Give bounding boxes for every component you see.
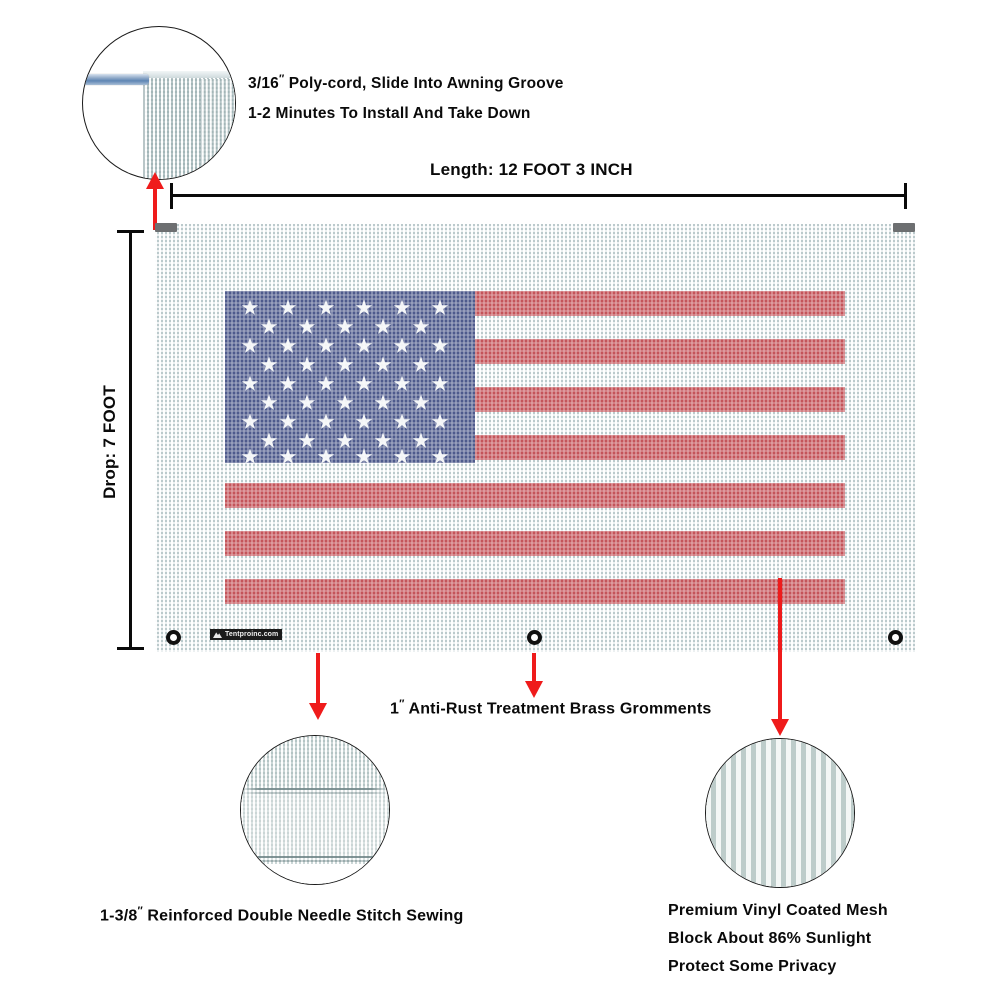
flag-stripe-7 xyxy=(225,579,845,604)
flag-stripe-2 xyxy=(475,339,845,364)
callout-polycord-line2: 1-2 Minutes To Install And Take Down xyxy=(248,105,531,123)
stitch-text: Reinforced Double Needle Stitch Sewing xyxy=(143,907,464,924)
arrow-grommet-stem xyxy=(532,653,536,683)
grommet-size: 1 xyxy=(390,700,399,717)
length-dimension-cap-right xyxy=(904,183,907,209)
header-endcap-right xyxy=(893,223,915,232)
hem-band xyxy=(241,788,389,860)
callout-mesh-line3: Protect Some Privacy xyxy=(668,958,837,976)
stitch-size: 1-3/8 xyxy=(100,907,137,924)
detail-circle-polycord xyxy=(82,26,236,180)
arrow-mesh-head xyxy=(771,719,789,736)
mesh-swatch-polycord-right xyxy=(201,79,236,180)
callout-mesh-line2: Block About 86% Sunlight xyxy=(668,930,871,948)
arrow-stitching-head xyxy=(309,703,327,720)
length-dimension-line xyxy=(170,194,907,197)
hem-fold xyxy=(143,71,236,78)
stitch-line-top-2 xyxy=(241,792,389,794)
circle-bottom-fade xyxy=(241,864,389,884)
canton-stars xyxy=(225,291,475,463)
grommet-left xyxy=(166,630,181,645)
callout-stitching: 1-3/8″ Reinforced Double Needle Stitch S… xyxy=(100,905,464,925)
arrow-polycord-head xyxy=(146,172,164,189)
flag-stripe-3 xyxy=(475,387,845,412)
flag-canton xyxy=(225,291,475,463)
detail-circle-mesh xyxy=(705,738,855,888)
drop-dimension-cap-bottom xyxy=(117,647,144,650)
flag-stripe-5 xyxy=(225,483,845,508)
flag-stripe-6 xyxy=(225,531,845,556)
mesh-swatch-vinyl xyxy=(706,739,854,887)
stitch-line-bottom xyxy=(241,856,389,858)
grommet-right xyxy=(888,630,903,645)
length-dimension-cap-left xyxy=(170,183,173,209)
polycord-rod xyxy=(82,74,149,85)
arrow-stitching-stem xyxy=(316,653,320,705)
grommet-center xyxy=(527,630,542,645)
flag-stripe-4 xyxy=(475,435,845,460)
flag-mesh-panel: Tentproinc.com xyxy=(155,224,915,652)
detail-circle-stitching xyxy=(240,735,390,885)
header-endcap-left xyxy=(155,223,177,232)
stitch-line-bottom-2 xyxy=(241,860,389,862)
drop-dimension-line xyxy=(129,231,132,650)
stitch-line-top xyxy=(241,788,389,790)
callout-polycord-line1: 3/16″ Poly-cord, Slide Into Awning Groov… xyxy=(248,73,564,93)
callout-mesh-line1: Premium Vinyl Coated Mesh xyxy=(668,902,888,920)
polycord-size: 3/16 xyxy=(248,75,279,92)
flag-stripe-1 xyxy=(475,291,845,316)
grommet-text: Anti-Rust Treatment Brass Gromments xyxy=(404,700,711,717)
drop-label: Drop: 7 FOOT xyxy=(100,382,120,502)
infographic-canvas: 3/16″ Poly-cord, Slide Into Awning Groov… xyxy=(0,0,1000,991)
polycord-text: Poly-cord, Slide Into Awning Groove xyxy=(284,75,563,92)
length-label: Length: 12 FOOT 3 INCH xyxy=(430,160,633,180)
callout-grommets: 1″ Anti-Rust Treatment Brass Gromments xyxy=(390,698,712,718)
mountain-logo-icon xyxy=(213,631,222,638)
brand-tag-label: Tentproinc.com xyxy=(225,631,278,638)
arrow-grommet-head xyxy=(525,681,543,698)
drop-dimension-cap-top xyxy=(117,230,144,233)
arrow-mesh-stem xyxy=(778,578,782,721)
brand-tag: Tentproinc.com xyxy=(210,629,282,640)
